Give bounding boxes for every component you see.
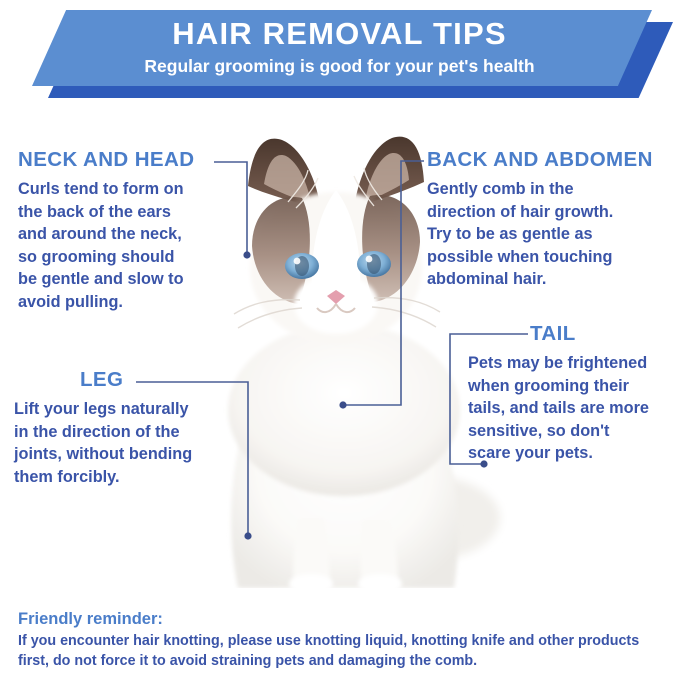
cat-eye-right — [357, 251, 391, 277]
infographic-page: HAIR REMOVAL TIPS Regular grooming is go… — [0, 0, 679, 679]
section-tail: TAIL Pets may be frightened when groomin… — [468, 322, 678, 465]
section-body-tail: Pets may be frightened when grooming the… — [468, 352, 678, 465]
footer-body: If you encounter hair knotting, please u… — [18, 632, 663, 671]
section-title-neck-and-head: NECK AND HEAD — [18, 148, 233, 172]
section-leg: LEG Lift your legs naturally in the dire… — [14, 368, 229, 488]
banner-text-group: HAIR REMOVAL TIPS Regular grooming is go… — [0, 10, 679, 90]
page-title: HAIR REMOVAL TIPS — [0, 10, 679, 54]
section-body-neck-and-head: Curls tend to form on the back of the ea… — [18, 178, 233, 313]
page-subtitle: Regular grooming is good for your pet's … — [0, 54, 679, 78]
section-title-leg: LEG — [14, 368, 229, 392]
header-banner: HAIR REMOVAL TIPS Regular grooming is go… — [0, 0, 679, 104]
section-title-back-and-abdomen: BACK AND ABDOMEN — [427, 148, 677, 172]
footer-title: Friendly reminder: — [18, 608, 663, 630]
section-body-leg: Lift your legs naturally in the directio… — [14, 398, 229, 488]
cat-eye-left — [285, 253, 319, 279]
section-back-and-abdomen: BACK AND ABDOMEN Gently comb in the dire… — [427, 148, 677, 291]
section-neck-and-head: NECK AND HEAD Curls tend to form on the … — [18, 148, 233, 313]
section-body-back-and-abdomen: Gently comb in the direction of hair gro… — [427, 178, 677, 291]
section-title-tail: TAIL — [468, 322, 678, 346]
footer-note: Friendly reminder: If you encounter hair… — [18, 608, 663, 671]
